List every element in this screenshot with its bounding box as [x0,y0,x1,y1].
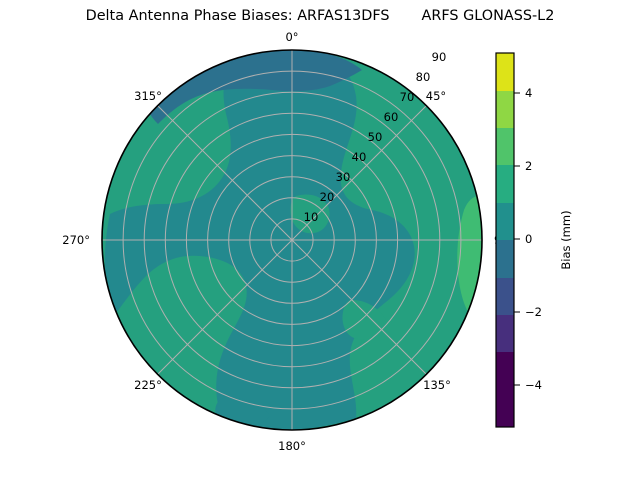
angular-tick-180: 180° [278,439,306,453]
radial-tick-60: 60 [384,110,399,124]
colorbar[interactable]: 4 2 0 −2 −4 Bias (mm) [496,53,573,427]
colorbar-tick-labels: 4 2 0 −2 −4 [525,86,542,392]
angular-tick-45: 45° [426,89,446,103]
radial-tick-40: 40 [352,150,367,164]
colorbar-tick-label-minus4: −4 [525,378,542,392]
polar-grid [102,50,482,430]
colorbar-tick-label-0: 0 [525,232,532,246]
radial-tick-10: 10 [304,210,319,224]
angular-tick-315: 315° [134,89,162,103]
radial-tick-30: 30 [336,170,351,184]
colorbar-band-0 [496,352,514,427]
colorbar-band-1 [496,315,514,352]
colorbar-gradient [496,53,514,427]
angular-tick-0: 0° [285,30,298,44]
colorbar-tick-label-4: 4 [525,86,532,100]
angular-tick-270: 270° [62,233,90,247]
radial-tick-90: 90 [432,50,447,64]
colorbar-ticks [514,93,520,385]
angular-tick-135: 135° [423,378,451,392]
colorbar-band-7 [496,91,514,128]
colorbar-band-3 [496,240,514,278]
polar-contour-plot: 0° 45° 90 135° 180° 225° 270° 315° 10 20… [0,0,640,480]
colorbar-tick-label-2: 2 [525,159,532,173]
radial-tick-50: 50 [368,130,383,144]
colorbar-band-5 [496,165,514,203]
figure-canvas: Delta Antenna Phase Biases: ARFAS13DFS A… [0,0,640,480]
radial-tick-70: 70 [400,90,415,104]
colorbar-axis-label: Bias (mm) [559,210,573,269]
colorbar-band-4 [496,203,514,240]
angular-tick-225: 225° [134,378,162,392]
colorbar-band-2 [496,278,514,315]
colorbar-band-6 [496,128,514,165]
radial-tick-80: 80 [416,70,431,84]
colorbar-band-8 [496,53,514,91]
colorbar-tick-label-minus2: −2 [525,305,542,319]
radial-tick-20: 20 [320,190,335,204]
